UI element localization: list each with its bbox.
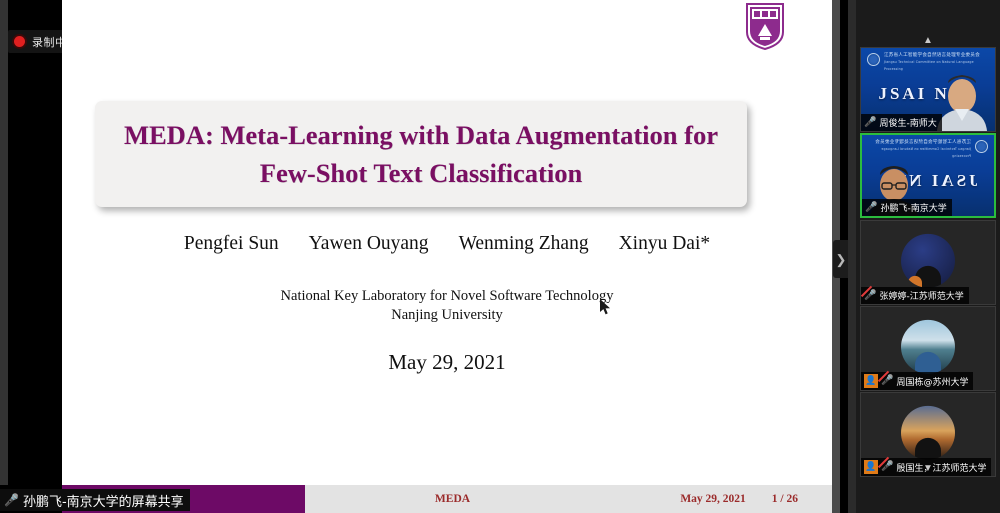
video-thumbnail-strip: ▲ 江苏省人工智能学会自然语言处理专业委员会 Jiangsu Technical…	[856, 0, 1000, 513]
footer-right: May 29, 2021 1 / 26	[600, 485, 832, 513]
mic-muted-icon: 🎤	[881, 376, 893, 386]
footer-date: May 29, 2021	[680, 493, 745, 505]
participant-label: 🎤 孙鹏飞-南京大学	[862, 199, 952, 216]
participant-label: 🎤 周俊生-南师大	[861, 114, 942, 131]
banner-header-text: 江苏省人工智能学会自然语言处理专业委员会 Jiangsu Technical C…	[868, 140, 971, 160]
mic-icon: 🎤	[864, 118, 876, 128]
participant-avatar	[901, 319, 955, 373]
slide-affiliation: National Key Laboratory for Novel Softwa…	[62, 287, 832, 325]
mic-icon: 🎤	[4, 494, 19, 506]
screen-share-toast: 🎤 孙鹏飞-南京大学的屏幕共享	[0, 489, 190, 511]
chevron-up-icon: ▲	[923, 35, 933, 46]
chevron-right-icon: ❯	[836, 253, 847, 266]
author-name: Wenming Zhang	[459, 233, 589, 255]
avatar-figure	[915, 437, 941, 459]
participant-video-figure	[935, 75, 989, 131]
zoom-meeting-window: 录制中	[0, 0, 1000, 513]
slide-title-line-2: Few-Shot Text Classification	[260, 154, 582, 192]
participant-name: 周国栋@苏州大学	[896, 375, 968, 388]
scroll-down-button[interactable]: ▼	[856, 460, 1000, 476]
slide-title-line-1: MEDA: Meta-Learning with Data Augmentati…	[124, 116, 718, 154]
scroll-up-button[interactable]: ▲	[856, 32, 1000, 48]
banner-title: 江苏省人工智能学会自然语言处理专业委员会	[875, 140, 971, 145]
participant-label: 👤 🎤 周国栋@苏州大学	[861, 372, 973, 390]
society-seal-icon	[867, 53, 880, 66]
affiliation-lab: National Key Laboratory for Novel Softwa…	[62, 287, 832, 306]
collapse-video-panel-button[interactable]: ❯	[833, 240, 849, 278]
footer-title: MEDA	[305, 485, 600, 513]
banner-title: 江苏省人工智能学会自然语言处理专业委员会	[884, 53, 980, 58]
host-badge-icon: 👤	[864, 374, 878, 388]
avatar-figure-secondary	[908, 275, 922, 287]
screen-share-toast-text: 孙鹏飞-南京大学的屏幕共享	[23, 491, 184, 510]
participant-name: 周俊生-南师大	[879, 116, 936, 129]
author-name: Yawen Ouyang	[309, 233, 429, 255]
slide-title-card: MEDA: Meta-Learning with Data Augmentati…	[95, 101, 747, 207]
participant-avatar	[901, 233, 955, 287]
participant-name: 孙鹏飞-南京大学	[880, 201, 946, 214]
presentation-slide: MEDA: Meta-Learning with Data Augmentati…	[62, 0, 832, 485]
author-name: Pengfei Sun	[184, 233, 279, 255]
video-tile[interactable]: 👤 🎤 周国栋@苏州大学	[860, 306, 996, 391]
video-tile[interactable]: 🎤 张婷婷-江苏师范大学	[860, 220, 996, 305]
banner-subtitle: Jiangsu Technical Committee on Natural L…	[884, 60, 974, 71]
nanjing-university-shield-logo	[744, 2, 786, 50]
video-strip-divider	[848, 0, 856, 513]
mic-muted-icon: 🎤	[864, 291, 876, 301]
participant-name: 张婷婷-江苏师范大学	[879, 289, 963, 302]
participant-avatar	[901, 405, 955, 459]
avatar-figure	[915, 351, 941, 373]
chevron-down-icon: ▼	[923, 463, 933, 474]
affiliation-university: Nanjing University	[62, 306, 832, 325]
video-tile[interactable]: 江苏省人工智能学会自然语言处理专业委员会 Jiangsu Technical C…	[860, 133, 996, 218]
footer-page-number: 1 / 26	[772, 493, 798, 505]
shared-screen-area: 录制中	[0, 0, 840, 513]
share-border-left	[0, 0, 8, 513]
author-name: Xinyu Dai*	[619, 233, 711, 255]
video-tile[interactable]: 江苏省人工智能学会自然语言处理专业委员会 Jiangsu Technical C…	[860, 47, 996, 132]
mic-icon: 🎤	[865, 203, 877, 213]
participant-label: 🎤 张婷婷-江苏师范大学	[861, 287, 969, 304]
slide-date: May 29, 2021	[62, 350, 832, 375]
banner-subtitle: Jiangsu Technical Committee on Natural L…	[881, 147, 971, 158]
record-dot-icon	[14, 36, 25, 47]
society-seal-icon	[975, 140, 988, 153]
desktop-footer-right-gap	[832, 485, 840, 513]
slide-authors: Pengfei Sun Yawen Ouyang Wenming Zhang X…	[62, 233, 832, 255]
banner-header: 江苏省人工智能学会自然语言处理专业委员会 Jiangsu Technical C…	[868, 140, 988, 160]
banner-header: 江苏省人工智能学会自然语言处理专业委员会 Jiangsu Technical C…	[867, 53, 989, 73]
banner-header-text: 江苏省人工智能学会自然语言处理专业委员会 Jiangsu Technical C…	[884, 53, 989, 73]
